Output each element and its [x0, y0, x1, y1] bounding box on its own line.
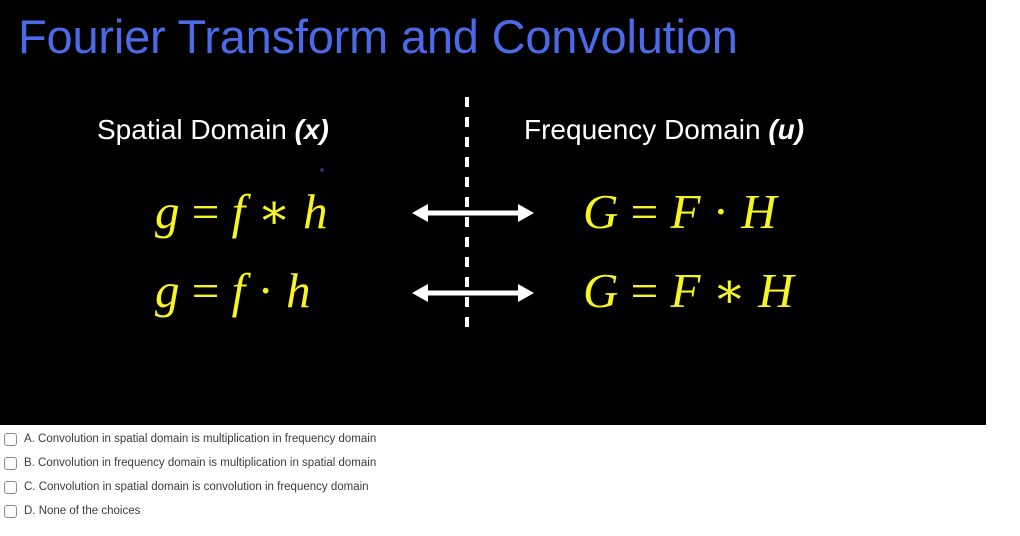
equation-frequency-row2: G = F ∗ H [583, 265, 794, 317]
eq-rhs-a: f [232, 263, 246, 318]
checkbox-icon-b[interactable] [4, 457, 17, 470]
slide-canvas: Fourier Transform and Convolution Spatia… [0, 0, 986, 425]
eq-rhs-a: F [671, 263, 701, 318]
eq-rhs-b: H [758, 263, 793, 318]
equation-spatial-row2: g = f · h [155, 265, 311, 317]
eq-equals: = [618, 263, 670, 318]
eq-rhs-b: h [286, 263, 311, 318]
checkbox-icon-c[interactable] [4, 481, 17, 494]
answer-choice-list: A. Convolution in spatial domain is mult… [0, 425, 1020, 536]
bidirectional-arrow-icon-row2 [412, 278, 534, 308]
eq-equals: = [180, 184, 232, 239]
stray-dot-artifact [320, 168, 324, 172]
eq-rhs-b: H [741, 184, 776, 239]
eq-operator: · [700, 184, 741, 239]
eq-operator: ∗ [700, 263, 758, 318]
choice-label-d: D. None of the choices [24, 504, 140, 518]
eq-lhs: G [583, 263, 618, 318]
column-header-frequency-variable: (u) [768, 114, 804, 145]
column-header-spatial-text: Spatial Domain [97, 114, 295, 145]
eq-rhs-a: F [671, 184, 701, 239]
choice-b[interactable]: B. Convolution in frequency domain is mu… [0, 451, 1020, 475]
page-title: Fourier Transform and Convolution [18, 8, 738, 66]
equation-spatial-row1: g = f ∗ h [155, 186, 328, 238]
eq-rhs-a: f [232, 184, 246, 239]
column-header-spatial-variable: (x) [295, 114, 329, 145]
equation-frequency-row1: G = F · H [583, 186, 777, 238]
column-header-frequency: Frequency Domain (u) [524, 110, 804, 150]
choice-label-a: A. Convolution in spatial domain is mult… [24, 432, 376, 446]
choice-d[interactable]: D. None of the choices [0, 499, 1020, 523]
eq-rhs-b: h [303, 184, 328, 239]
column-header-spatial: Spatial Domain (x) [97, 110, 329, 150]
choice-c[interactable]: C. Convolution in spatial domain is conv… [0, 475, 1020, 499]
eq-lhs: g [155, 184, 180, 239]
eq-equals: = [180, 263, 232, 318]
bidirectional-arrow-icon-row1 [412, 198, 534, 228]
choice-label-c: C. Convolution in spatial domain is conv… [24, 480, 369, 494]
eq-equals: = [618, 184, 670, 239]
choice-a[interactable]: A. Convolution in spatial domain is mult… [0, 427, 1020, 451]
checkbox-icon-a[interactable] [4, 433, 17, 446]
eq-lhs: G [583, 184, 618, 239]
eq-operator: · [245, 263, 286, 318]
eq-lhs: g [155, 263, 180, 318]
eq-operator: ∗ [245, 184, 303, 239]
choice-label-b: B. Convolution in frequency domain is mu… [24, 456, 376, 470]
checkbox-icon-d[interactable] [4, 505, 17, 518]
column-header-frequency-text: Frequency Domain [524, 114, 768, 145]
